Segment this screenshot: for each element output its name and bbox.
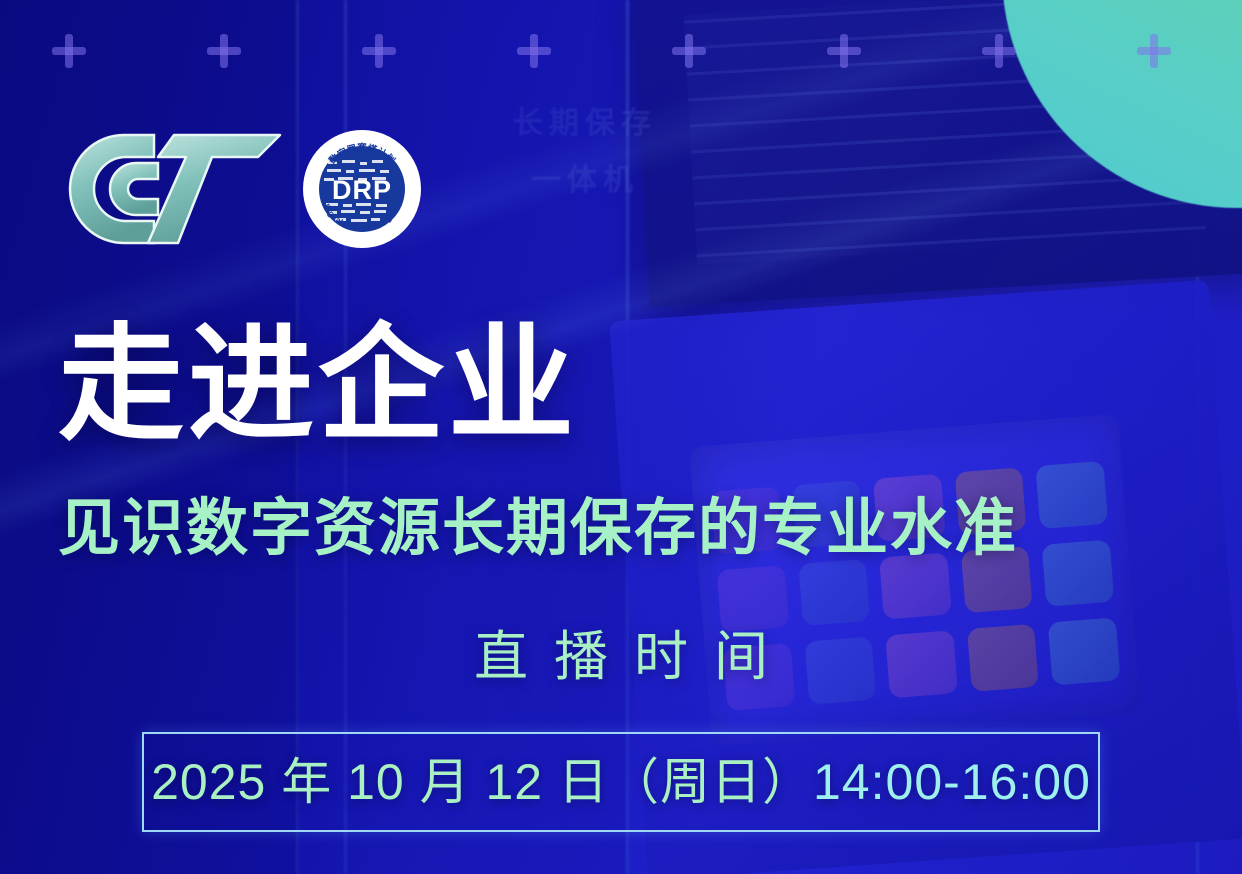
- plus-icon: [362, 34, 396, 68]
- live-time-label: 直播时间: [0, 630, 1242, 684]
- schedule-date: 2025 年 10 月 12 日（周日）: [151, 754, 813, 810]
- schedule-time: 14:00-16:00: [813, 754, 1091, 810]
- plus-decoration-row: [52, 34, 1152, 74]
- plus-icon: [517, 34, 551, 68]
- plus-icon: [207, 34, 241, 68]
- svg-text:DRP: DRP: [332, 175, 392, 205]
- live-stream-poster: 长期保存 一体机: [0, 0, 1242, 874]
- drp-seal-icon: DRP 数字罗塞塔计划 Digital Rosetta Program: [302, 129, 422, 249]
- logo-row: DRP 数字罗塞塔计划 Digital Rosetta Program: [62, 122, 422, 256]
- plus-icon: [982, 34, 1016, 68]
- plus-icon: [1137, 34, 1171, 68]
- poster-title: 走进企业: [58, 322, 578, 448]
- plus-icon: [827, 34, 861, 68]
- schedule-line: 2025 年 10 月 12 日（周日）14:00-16:00: [151, 757, 1091, 807]
- poster-subtitle: 见识数字资源长期保存的专业水准: [58, 498, 1018, 560]
- plus-icon: [52, 34, 86, 68]
- plus-icon: [672, 34, 706, 68]
- schedule-box: 2025 年 10 月 12 日（周日）14:00-16:00: [142, 732, 1100, 832]
- ct-logo-icon: [62, 129, 284, 249]
